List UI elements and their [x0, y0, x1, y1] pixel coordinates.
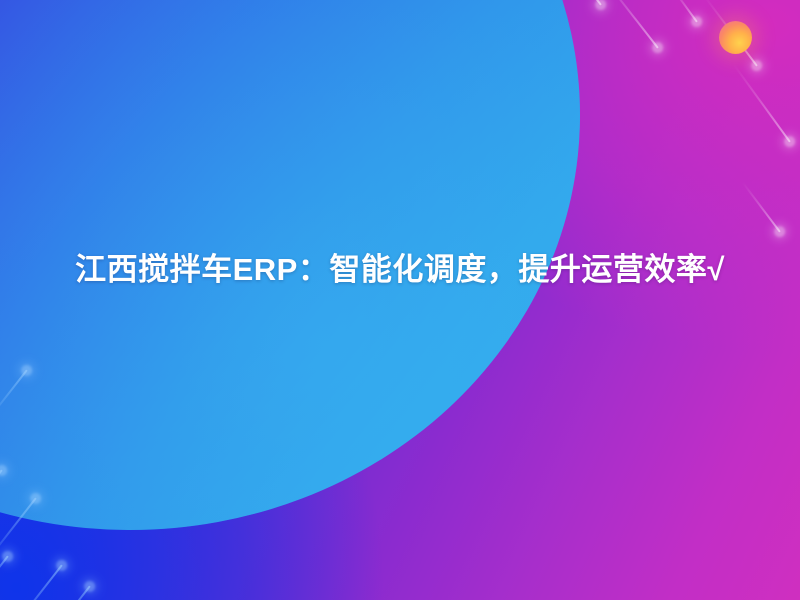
banner-headline: 江西搅拌车ERP：智能化调度，提升运营效率√	[0, 243, 800, 297]
banner-canvas: 江西搅拌车ERP：智能化调度，提升运营效率√	[0, 0, 800, 600]
orange-glow-dot-icon	[719, 21, 752, 54]
